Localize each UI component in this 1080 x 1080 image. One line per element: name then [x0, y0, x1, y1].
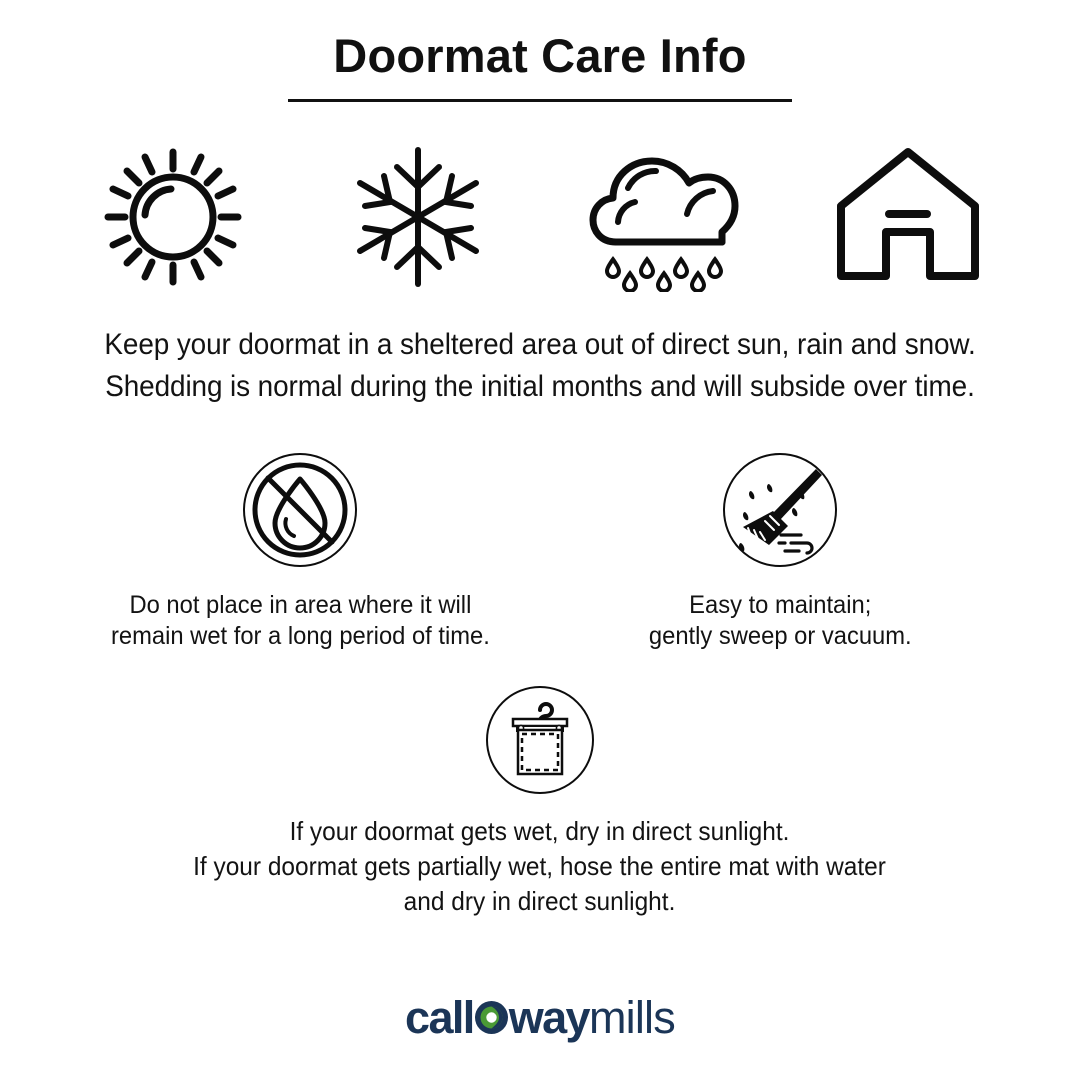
weather-icon-row — [0, 132, 1080, 302]
drying-caption: If your doormat gets wet, dry in direct … — [171, 814, 908, 919]
page-title: Doormat Care Info — [0, 30, 1080, 82]
caption-line: If your doormat gets wet, dry in direct … — [194, 814, 887, 849]
care-item-sweep: Easy to maintain; gently sweep or vacuum… — [540, 444, 1020, 652]
doormat-care-info-page: { "header": { "title": "Doormat Care Inf… — [0, 0, 1080, 1080]
caption-line: If your doormat gets partially wet, hose… — [194, 849, 887, 884]
snowflake-icon — [318, 132, 518, 302]
logo-calloway-part-b: way — [509, 995, 589, 1040]
broom-sweep-icon — [721, 444, 839, 576]
intro-line: Shedding is normal during the initial mo… — [75, 366, 1005, 408]
intro-paragraph: Keep your doormat in a sheltered area ou… — [0, 324, 1080, 408]
caption-line: and dry in direct sunlight. — [194, 884, 887, 919]
care-item-caption: Easy to maintain; gently sweep or vacuum… — [642, 590, 919, 652]
logo-mills-text: mills — [589, 995, 675, 1040]
caption-line: Do not place in area where it will — [111, 590, 490, 621]
care-item-no-water: Do not place in area where it will remai… — [60, 444, 540, 652]
intro-line: Keep your doormat in a sheltered area ou… — [75, 324, 1005, 366]
logo-leaf-o-icon — [475, 1001, 508, 1034]
caption-line: gently sweep or vacuum. — [649, 621, 912, 652]
house-icon — [808, 132, 1008, 302]
caption-line: Easy to maintain; — [649, 590, 912, 621]
care-items-row: Do not place in area where it will remai… — [0, 444, 1080, 652]
drying-instructions-block: If your doormat gets wet, dry in direct … — [0, 680, 1080, 919]
brand-logo: call way mills — [0, 995, 1080, 1040]
rain-cloud-icon — [563, 132, 763, 302]
care-item-caption: Do not place in area where it will remai… — [101, 590, 500, 652]
page-header: Doormat Care Info — [0, 0, 1080, 102]
no-water-icon — [241, 444, 359, 576]
title-underline-rule — [288, 99, 792, 102]
sun-icon — [73, 132, 273, 302]
logo-calloway-text: call way — [405, 995, 589, 1040]
caption-line: remain wet for a long period of time. — [111, 621, 490, 652]
hang-dry-mat-icon — [484, 680, 596, 800]
logo-calloway-part-a: call — [405, 995, 474, 1040]
